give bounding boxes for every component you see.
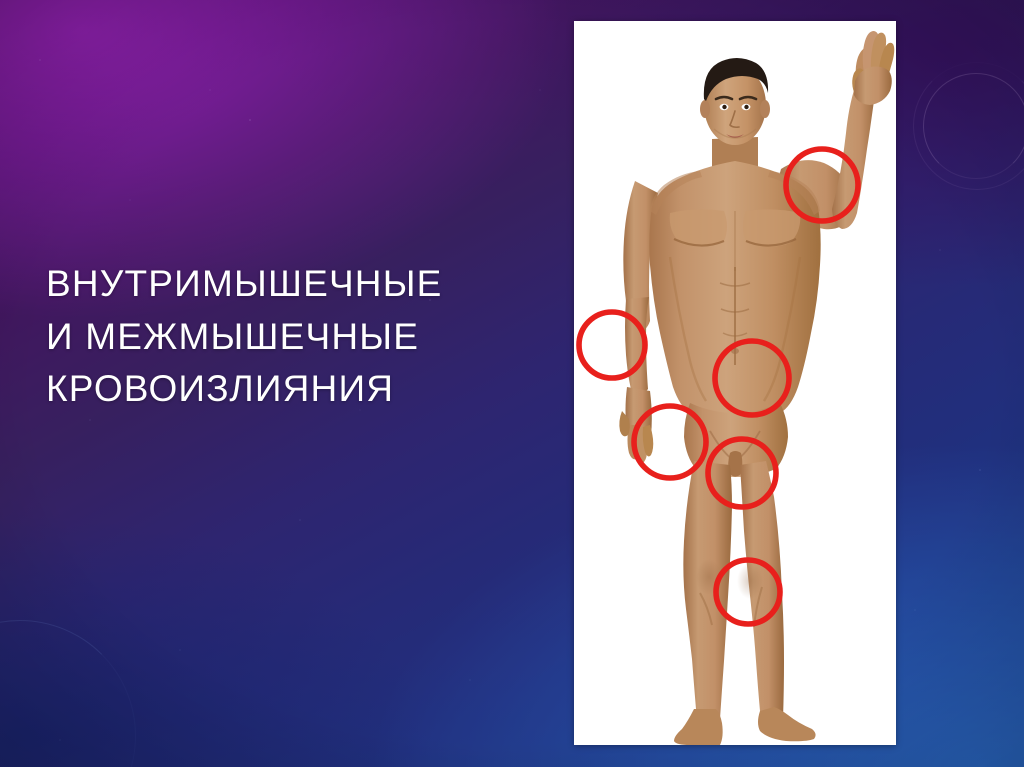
eye-left — [722, 105, 726, 109]
ear-left — [700, 100, 710, 118]
illustration-panel — [574, 21, 896, 745]
human-body-illustration — [574, 21, 896, 745]
ear-right — [760, 100, 770, 118]
eye-right — [744, 105, 748, 109]
slide-title: ВНУТРИМЫШЕЧНЫЕ И МЕЖМЫШЕЧНЫЕ КРОВОИЗЛИЯН… — [46, 258, 516, 416]
presentation-slide: ВНУТРИМЫШЕЧНЫЕ И МЕЖМЫШЕЧНЫЕ КРОВОИЗЛИЯН… — [0, 0, 1024, 767]
